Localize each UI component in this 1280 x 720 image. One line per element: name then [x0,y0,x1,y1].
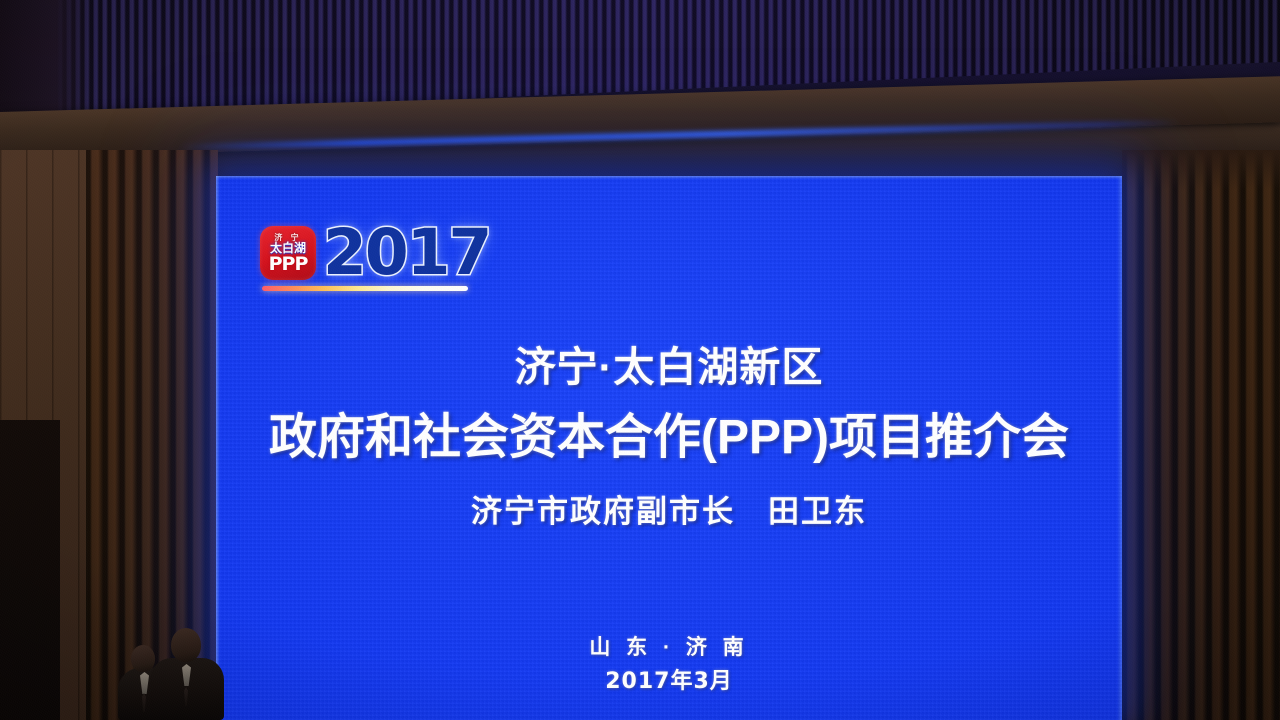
projection-screen: 济 宁 太白湖 PPP 2017 济宁·太白湖新区 政府和社会资本合作(PPP)… [216,176,1122,720]
jining-taibai-lake-ppp-logo: 济 宁 太白湖 PPP [260,226,316,280]
head [171,628,201,662]
brand-row: 济 宁 太白湖 PPP 2017 [260,224,525,282]
slide-headline-block: 济宁·太白湖新区 政府和社会资本合作(PPP)项目推介会 济宁市政府副市长 田卫… [216,344,1122,530]
brand-lockup: 济 宁 太白湖 PPP 2017 [260,224,525,291]
conference-photo: 济 宁 太白湖 PPP 2017 济宁·太白湖新区 政府和社会资本合作(PPP)… [0,0,1280,720]
logo-ppp-label: PPP [269,255,308,274]
wall-shadow-seam [0,420,60,720]
stage-curtain-right-top-shadow [1122,150,1280,190]
slide-title-line-2: 政府和社会资本合作(PPP)项目推介会 [216,412,1122,464]
slide-title-line-1: 济宁·太白湖新区 [216,344,1122,390]
slide-footer-block: 山 东 · 济 南 2017年3月 [216,634,1122,696]
presentation-slide: 济 宁 太白湖 PPP 2017 济宁·太白湖新区 政府和社会资本合作(PPP)… [216,176,1122,720]
man-in-dark-suit-front [150,628,224,720]
slide-presenter-line: 济宁市政府副市长 田卫东 [216,494,1122,530]
slide-footer-date: 2017年3月 [216,668,1122,696]
stage-curtain-right [1122,150,1280,720]
slide-footer-place: 山 东 · 济 南 [216,634,1122,662]
audience-silhouettes [118,628,238,720]
year-wordmark: 2017 [323,224,490,282]
